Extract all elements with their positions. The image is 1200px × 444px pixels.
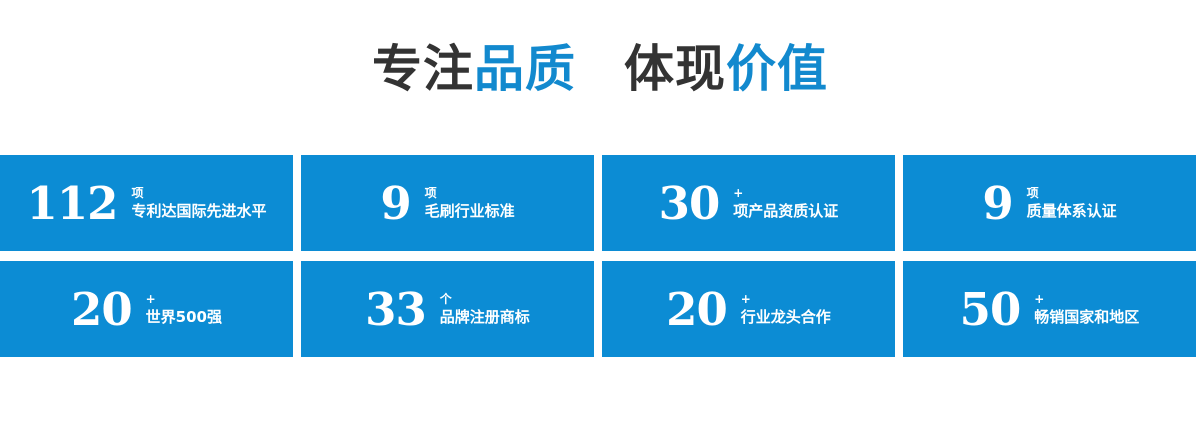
stat-card[interactable]: 9 项 毛刷行业标准 (301, 155, 594, 251)
stat-number: 20 (71, 287, 132, 332)
stat-unit: + (741, 292, 751, 306)
stat-label: 项产品资质认证 (733, 202, 838, 220)
title-segment-blue-1: 品质 (474, 40, 576, 98)
stat-label: 行业龙头合作 (741, 308, 831, 326)
stat-number: 20 (666, 287, 727, 332)
stat-number: 50 (960, 287, 1021, 332)
title-segment-dark-2: 体现 (624, 40, 726, 98)
stat-unit: 个 (440, 292, 452, 306)
title-segment-dark-1: 专注 (372, 40, 474, 98)
stat-text-block: + 行业龙头合作 (741, 292, 831, 326)
stat-number: 9 (982, 181, 1012, 226)
stat-label: 品牌注册商标 (440, 308, 530, 326)
stat-text-block: 项 毛刷行业标准 (425, 186, 515, 220)
stat-label: 质量体系认证 (1027, 202, 1117, 220)
stat-card[interactable]: 9 项 质量体系认证 (903, 155, 1196, 251)
stat-number: 112 (27, 181, 118, 226)
stat-label: 畅销国家和地区 (1034, 308, 1139, 326)
stat-card[interactable]: 20 + 行业龙头合作 (602, 261, 895, 357)
stat-text-block: + 世界500强 (146, 292, 222, 326)
stat-label: 毛刷行业标准 (425, 202, 515, 220)
stat-unit: + (146, 292, 156, 306)
stat-label: 专利达国际先进水平 (131, 202, 266, 220)
stats-grid: 112 项 专利达国际先进水平 9 项 毛刷行业标准 30 + 项产品资质认证 … (0, 155, 1196, 357)
stat-card[interactable]: 33 个 品牌注册商标 (301, 261, 594, 357)
stat-card[interactable]: 30 + 项产品资质认证 (602, 155, 895, 251)
stat-text-block: + 项产品资质认证 (733, 186, 838, 220)
stat-card[interactable]: 20 + 世界500强 (0, 261, 293, 357)
title-segment-blue-2: 价值 (726, 40, 828, 98)
stat-label: 世界500强 (146, 308, 222, 326)
stat-number: 9 (380, 181, 410, 226)
stat-card[interactable]: 50 + 畅销国家和地区 (903, 261, 1196, 357)
stats-banner: 专注品质体现价值 112 项 专利达国际先进水平 9 项 毛刷行业标准 30 +… (0, 0, 1200, 444)
stat-number: 33 (365, 287, 426, 332)
stat-unit: 项 (1027, 186, 1039, 200)
stat-text-block: + 畅销国家和地区 (1034, 292, 1139, 326)
page-title: 专注品质体现价值 (0, 38, 1200, 100)
stat-number: 30 (659, 181, 720, 226)
stat-unit: + (733, 186, 743, 200)
stat-card[interactable]: 112 项 专利达国际先进水平 (0, 155, 293, 251)
stat-unit: 项 (425, 186, 437, 200)
stat-text-block: 项 专利达国际先进水平 (131, 186, 266, 220)
stat-text-block: 项 质量体系认证 (1027, 186, 1117, 220)
stat-unit: + (1034, 292, 1044, 306)
stat-unit: 项 (131, 186, 143, 200)
stat-text-block: 个 品牌注册商标 (440, 292, 530, 326)
